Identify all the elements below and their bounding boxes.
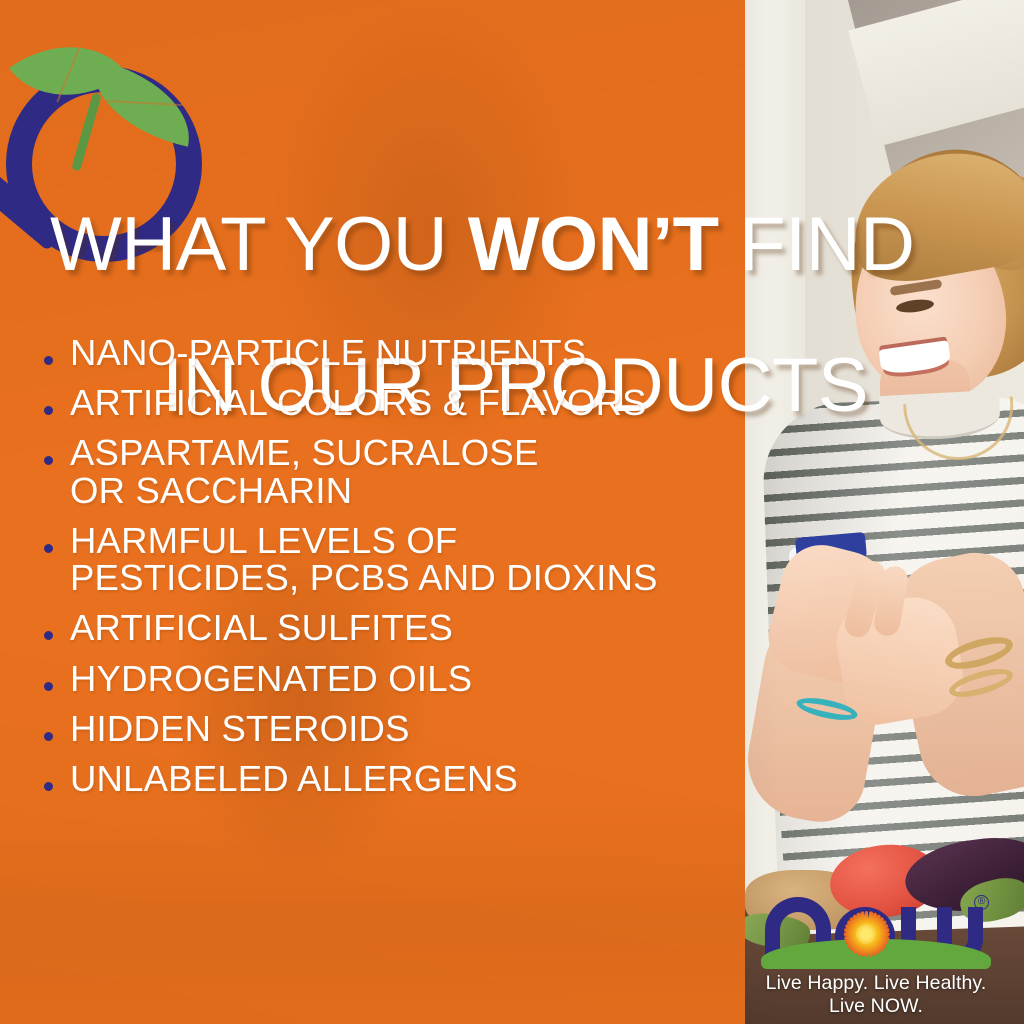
headline-part-b: FIND [719, 202, 915, 287]
logo-tagline: Live Happy. Live Healthy. Live NOW. [748, 972, 1004, 1018]
promo-graphic: WHAT YOU WON’T FIND IN OUR PRODUCTS NANO… [0, 0, 1024, 1024]
bullet-dot-icon [44, 544, 53, 553]
list-item-label: ASPARTAME, SUCRALOSE OR SACCHARIN [70, 434, 538, 508]
bullet-dot-icon [44, 732, 53, 741]
sun-core [856, 924, 876, 944]
list-item: ARTIFICIAL SULFITES [44, 609, 744, 646]
list-item: NANO-PARTICLE NUTRIENTS [44, 334, 744, 371]
list-item-label: NANO-PARTICLE NUTRIENTS [70, 334, 586, 371]
list-item-label: HIDDEN STEROIDS [70, 710, 410, 747]
sunburst-icon [845, 913, 887, 955]
list-item-label: ARTIFICIAL COLORS & FLAVORS [70, 384, 647, 421]
headline-line-1: WHAT YOU WON’T FIND [50, 210, 990, 281]
list-item-label: ARTIFICIAL SULFITES [70, 609, 453, 646]
bullet-dot-icon [44, 782, 53, 791]
list-item-label: HYDROGENATED OILS [70, 660, 472, 697]
headline-emphasis: WON’T [468, 202, 719, 287]
list-item-label: UNLABELED ALLERGENS [70, 760, 518, 797]
bullet-dot-icon [44, 356, 53, 365]
bullet-dot-icon [44, 406, 53, 415]
list-item: HARMFUL LEVELS OF PESTICIDES, PCBS AND D… [44, 522, 744, 596]
registered-trademark-icon: ® [974, 895, 989, 910]
bullet-dot-icon [44, 456, 53, 465]
list-item: HYDROGENATED OILS [44, 660, 744, 697]
now-wordmark: ® [761, 893, 991, 969]
exclusion-list: NANO-PARTICLE NUTRIENTS ARTIFICIAL COLOR… [44, 334, 744, 810]
list-item-label: HARMFUL LEVELS OF PESTICIDES, PCBS AND D… [70, 522, 658, 596]
list-item: ASPARTAME, SUCRALOSE OR SACCHARIN [44, 434, 744, 508]
bullet-dot-icon [44, 631, 53, 640]
headline-part-a: WHAT YOU [50, 202, 468, 287]
now-foods-logo[interactable]: ® Live Happy. Live Healthy. Live NOW. [748, 893, 1004, 1001]
list-item: HIDDEN STEROIDS [44, 710, 744, 747]
bullet-dot-icon [44, 682, 53, 691]
list-item: ARTIFICIAL COLORS & FLAVORS [44, 384, 744, 421]
list-item: UNLABELED ALLERGENS [44, 760, 744, 797]
panel-bottom-shade [0, 804, 745, 1024]
